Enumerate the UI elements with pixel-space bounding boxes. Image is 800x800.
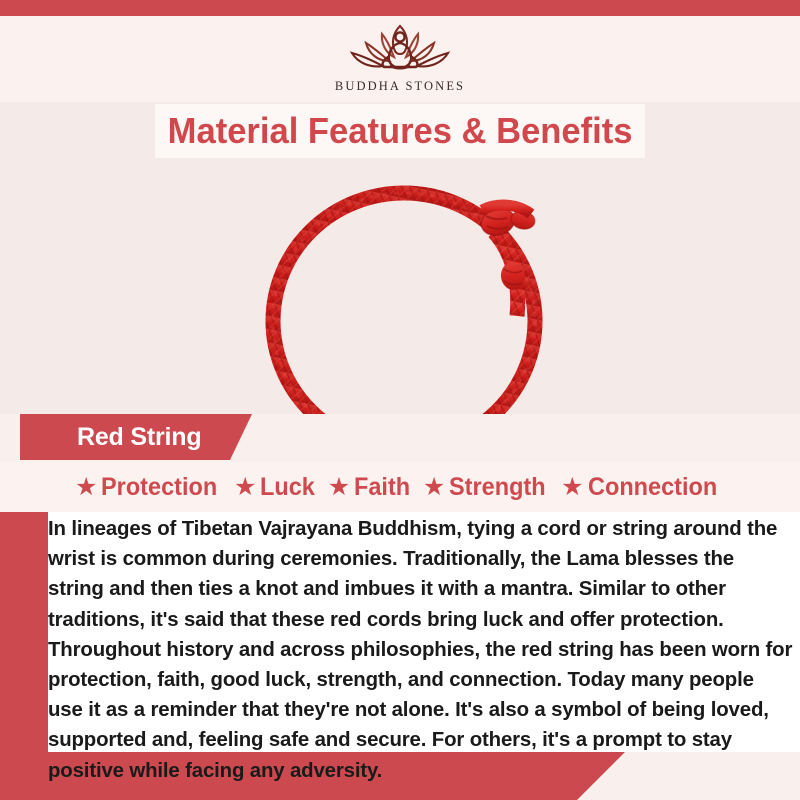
- material-label-banner: Red String: [20, 414, 252, 460]
- description-paragraph: In lineages of Tibetan Vajrayana Buddhis…: [48, 514, 793, 786]
- page-title-text: Material Features & Benefits: [168, 110, 633, 152]
- brand-header: BUDDHA STONES: [0, 16, 800, 102]
- star-icon: ★: [75, 475, 97, 500]
- benefit-item: ★ Connection: [561, 473, 725, 502]
- benefits-row: ★ Protection ★ Luck ★ Faith ★ Strength ★…: [0, 462, 800, 512]
- page-title: Material Features & Benefits: [155, 104, 645, 158]
- lotus-meditation-icon: [336, 16, 464, 78]
- benefit-item: ★ Strength: [423, 473, 552, 502]
- star-icon: ★: [328, 475, 350, 500]
- star-icon: ★: [423, 475, 445, 500]
- brand-name: BUDDHA STONES: [335, 79, 465, 94]
- benefit-item: ★ Faith: [328, 473, 414, 502]
- benefit-label: Connection: [588, 473, 717, 502]
- benefit-item: ★ Luck: [234, 473, 319, 502]
- star-icon: ★: [561, 475, 583, 500]
- benefit-label: Protection: [101, 473, 217, 502]
- benefit-label: Strength: [449, 473, 546, 502]
- decorative-band-top: [0, 0, 800, 16]
- material-label-text: Red String: [77, 423, 201, 452]
- benefit-label: Luck: [260, 473, 315, 502]
- product-infographic: BUDDHA STONES Material Features & Benefi…: [0, 0, 800, 800]
- benefit-item: ★ Protection: [75, 473, 225, 502]
- description-block: In lineages of Tibetan Vajrayana Buddhis…: [48, 512, 800, 752]
- benefit-label: Faith: [354, 473, 410, 502]
- star-icon: ★: [234, 475, 256, 500]
